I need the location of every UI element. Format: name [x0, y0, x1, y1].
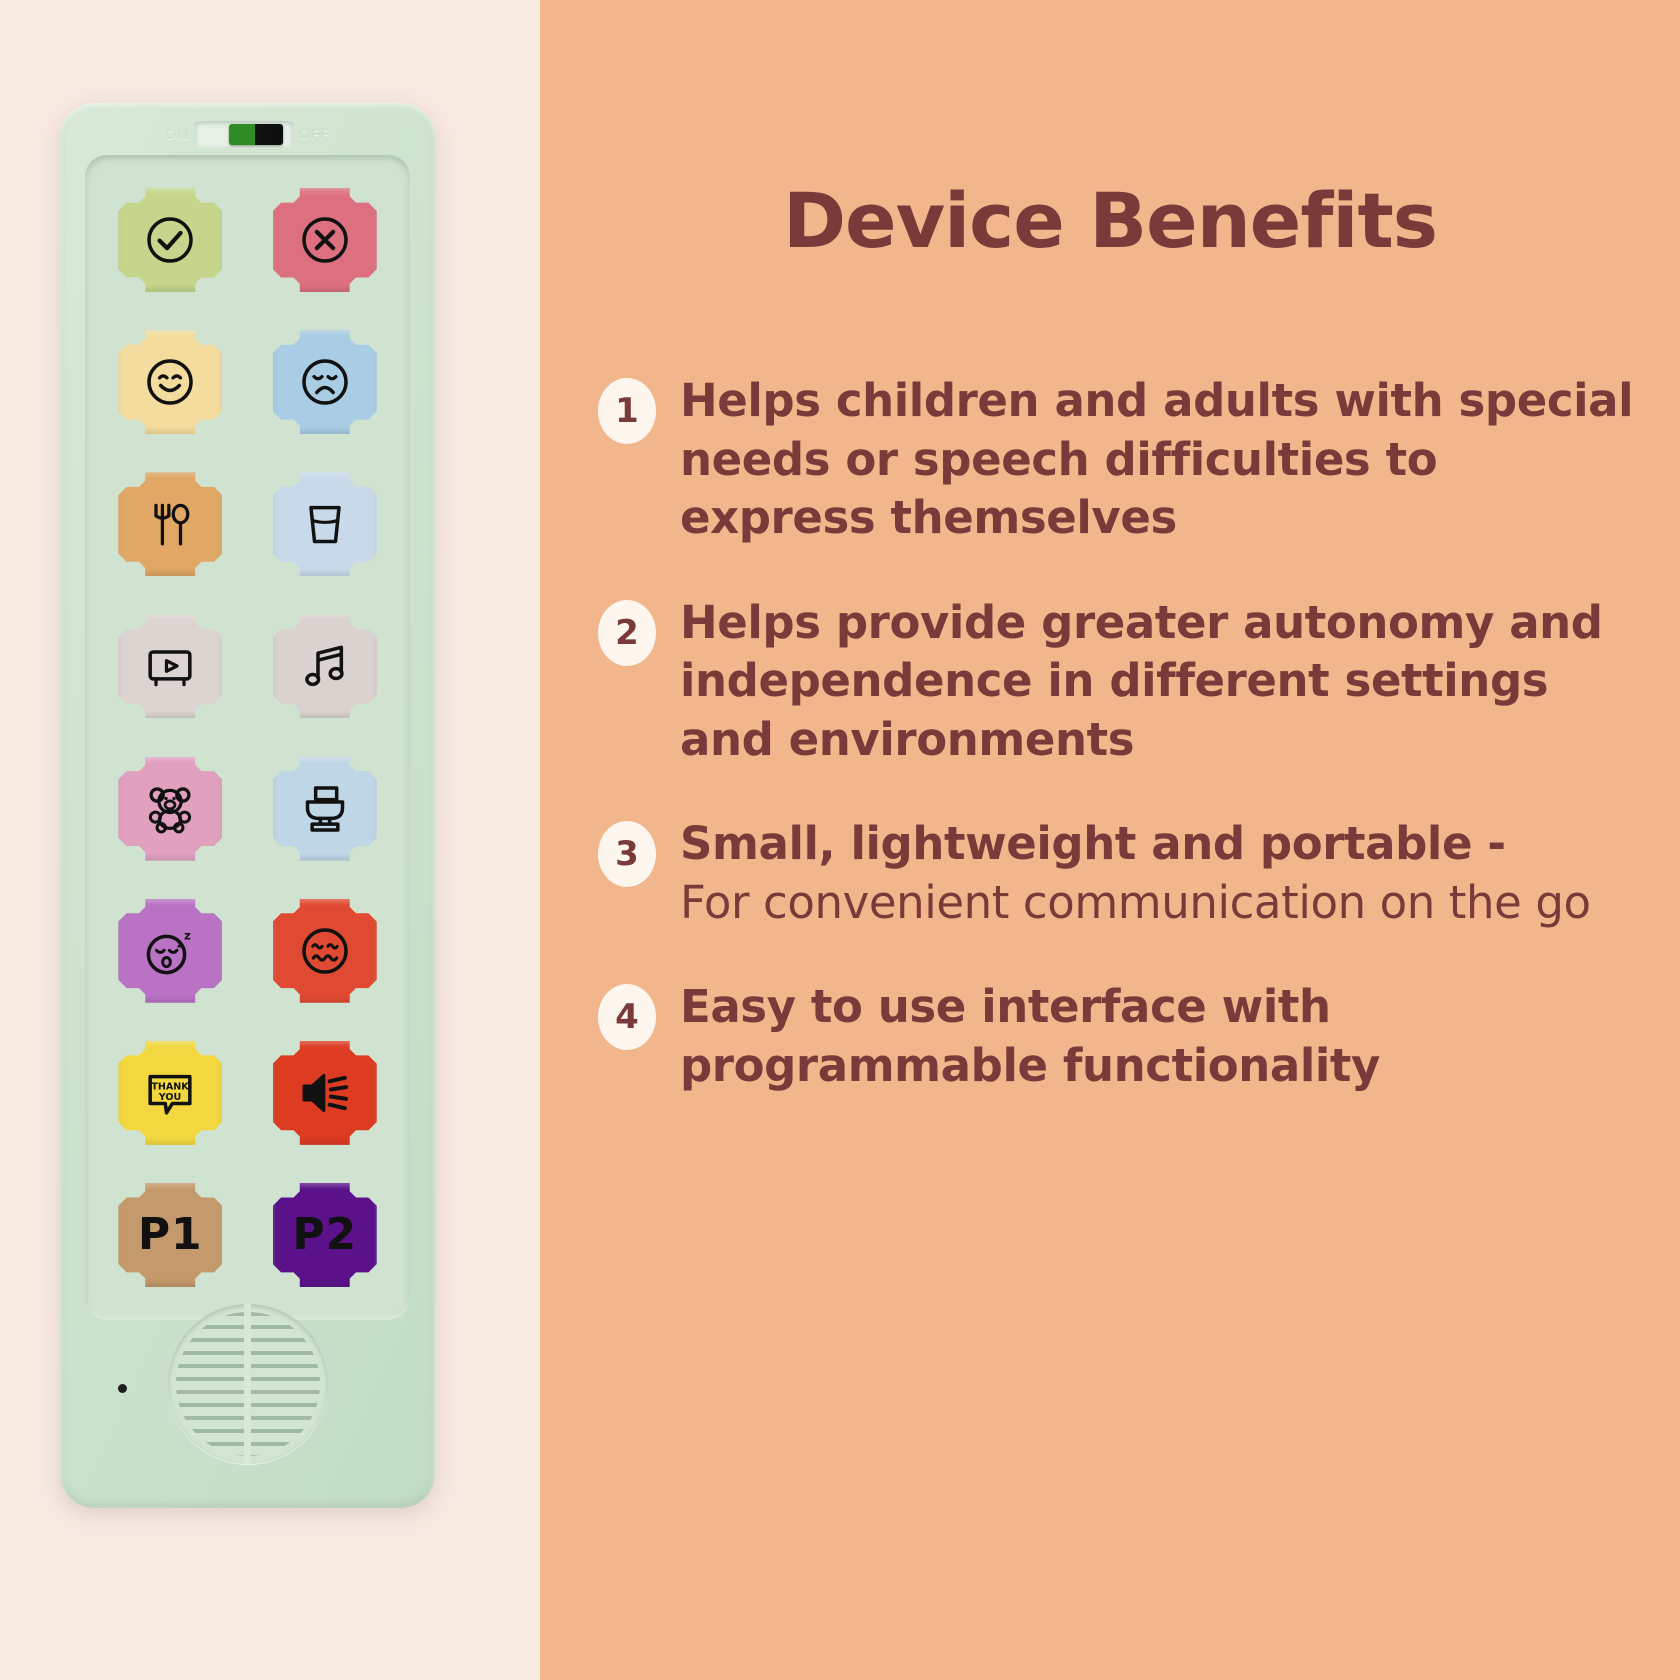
button-cell — [254, 882, 397, 1020]
button-thank-you[interactable]: THANK YOU — [118, 1041, 222, 1145]
benefit-number-badge: 4 — [598, 984, 656, 1050]
speaker-grille — [168, 1304, 328, 1464]
loud-speaker-icon — [297, 1065, 353, 1121]
button-cell — [254, 313, 397, 451]
button-cell: THANK YOU — [99, 1024, 242, 1162]
switch-off-label: OFF — [299, 126, 331, 143]
happy-face-icon — [142, 354, 198, 410]
button-sad-face[interactable] — [273, 330, 377, 434]
keypad-well: z z — [85, 155, 410, 1320]
benefit-number-badge: 2 — [598, 600, 656, 666]
benefits-list: 1 Helps children and adults with special… — [598, 372, 1640, 1095]
benefit-item-2: 2 Helps provide greater autonomy and ind… — [598, 594, 1640, 770]
button-eat[interactable] — [118, 472, 222, 576]
button-preset-two[interactable]: P2 — [273, 1183, 377, 1287]
indicator-led — [118, 1384, 127, 1393]
button-cell — [99, 597, 242, 735]
button-cell — [99, 171, 242, 309]
button-cell — [254, 740, 397, 878]
benefit-heading: Helps children and adults with special n… — [680, 372, 1640, 548]
sad-face-icon — [297, 354, 353, 410]
button-x-circle[interactable] — [273, 188, 377, 292]
button-tv[interactable] — [118, 614, 222, 718]
toilet-icon — [297, 781, 353, 837]
preset-one-label: P1 — [138, 1213, 203, 1257]
switch-on-label: ON — [165, 126, 189, 143]
benefit-heading: Easy to use interface with programmable … — [680, 978, 1640, 1095]
benefit-number-badge: 3 — [598, 821, 656, 887]
benefit-item-3: 3 Small, lightweight and portable - For … — [598, 815, 1640, 932]
page-root: ON OFF — [0, 0, 1680, 1680]
svg-text:YOU: YOU — [158, 1092, 181, 1103]
button-cell — [254, 455, 397, 593]
check-circle-icon — [142, 212, 198, 268]
music-note-icon — [297, 638, 353, 694]
benefit-heading: Small, lightweight and portable - — [680, 815, 1640, 874]
benefit-item-4: 4 Easy to use interface with programmabl… — [598, 978, 1640, 1095]
button-cell — [254, 597, 397, 735]
benefit-body: Small, lightweight and portable - For co… — [680, 815, 1640, 932]
button-cell: z z — [99, 882, 242, 1020]
power-switch-track[interactable] — [195, 121, 293, 147]
svg-text:z: z — [184, 928, 191, 942]
button-cell: P2 — [254, 1166, 397, 1304]
page-title: Device Benefits — [540, 176, 1680, 265]
preset-two-label: P2 — [292, 1213, 357, 1257]
product-image-panel: ON OFF — [0, 0, 540, 1680]
aac-communication-device: ON OFF — [60, 103, 435, 1508]
benefits-panel: Device Benefits 1 Helps children and adu… — [540, 0, 1680, 1680]
button-cell — [254, 1024, 397, 1162]
button-happy-face[interactable] — [118, 330, 222, 434]
water-glass-icon — [297, 496, 353, 552]
button-cell — [99, 455, 242, 593]
button-music[interactable] — [273, 614, 377, 718]
button-sleep[interactable]: z z — [118, 899, 222, 1003]
button-play-teddy[interactable] — [118, 757, 222, 861]
button-cell — [254, 171, 397, 309]
button-unwell[interactable] — [273, 899, 377, 1003]
power-switch-knob[interactable] — [229, 124, 283, 145]
sleeping-face-icon: z z — [142, 923, 198, 979]
benefit-body: Helps provide greater autonomy and indep… — [680, 594, 1640, 770]
teddy-bear-icon — [142, 781, 198, 837]
speaker-divider — [244, 1304, 251, 1464]
button-toilet[interactable] — [273, 757, 377, 861]
benefit-body: Helps children and adults with special n… — [680, 372, 1640, 548]
button-grid: z z — [99, 171, 396, 1304]
svg-text:THANK: THANK — [152, 1081, 190, 1092]
power-switch-row[interactable]: ON OFF — [60, 117, 435, 151]
button-cell — [99, 313, 242, 451]
sick-face-icon — [297, 923, 353, 979]
button-preset-one[interactable]: P1 — [118, 1183, 222, 1287]
tv-play-icon — [142, 638, 198, 694]
button-check-circle[interactable] — [118, 188, 222, 292]
benefit-heading: Helps provide greater autonomy and indep… — [680, 594, 1640, 770]
button-drink[interactable] — [273, 472, 377, 576]
thank-you-bubble-icon: THANK YOU — [142, 1065, 198, 1121]
svg-text:z: z — [177, 939, 182, 950]
fork-spoon-icon — [142, 496, 198, 552]
button-loud[interactable] — [273, 1041, 377, 1145]
benefit-item-1: 1 Helps children and adults with special… — [598, 372, 1640, 548]
benefit-number-badge: 1 — [598, 378, 656, 444]
benefit-subtext: For convenient communication on the go — [680, 874, 1640, 933]
x-circle-icon — [297, 212, 353, 268]
button-cell — [99, 740, 242, 878]
benefit-body: Easy to use interface with programmable … — [680, 978, 1640, 1095]
button-cell: P1 — [99, 1166, 242, 1304]
